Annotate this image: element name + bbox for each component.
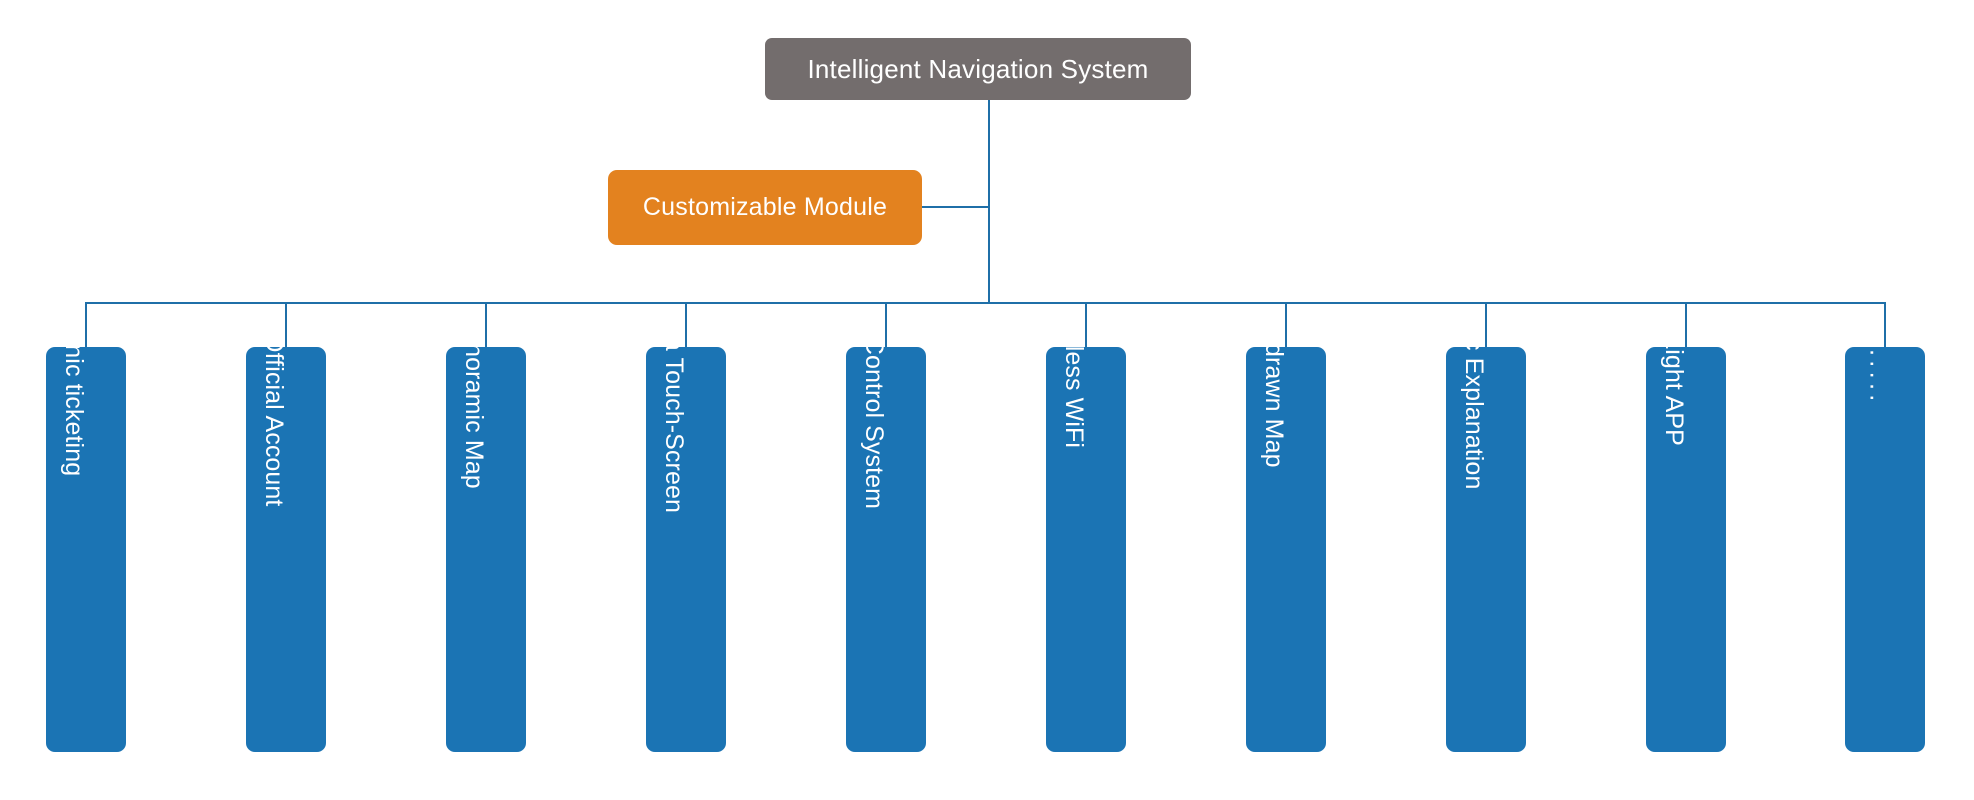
leaf-node-label: Exit-inlet Control System bbox=[861, 347, 886, 509]
leaf-node-label: 720° Panoramic Map bbox=[461, 347, 486, 489]
leaf-node-hand-drawn-map[interactable]: Hand-drawn Map bbox=[1246, 347, 1326, 752]
leaf-node-multimedia-touch-screen[interactable]: Multimedia Touch-Screen bbox=[646, 347, 726, 752]
leaf-node-group: Electronic ticketing WeChat Official Acc… bbox=[0, 0, 1974, 800]
leaf-node-label: Multimedia Touch-Screen bbox=[661, 347, 686, 513]
leaf-node-h5-light-app[interactable]: H5 Light APP bbox=[1646, 347, 1726, 752]
leaf-node-label: Wireless WiFi bbox=[1061, 347, 1086, 448]
leaf-node-label: Electronic ticketing bbox=[61, 347, 86, 476]
leaf-node-phonetic-explanation[interactable]: Phonetic Explanation bbox=[1446, 347, 1526, 752]
leaf-node-wechat-official-account[interactable]: WeChat Official Account bbox=[246, 347, 326, 752]
leaf-node-label: Phonetic Explanation bbox=[1461, 347, 1486, 489]
leaf-node-label: H5 Light APP bbox=[1661, 347, 1686, 446]
leaf-node-more[interactable]: ······ bbox=[1845, 347, 1925, 752]
leaf-node-label: ······ bbox=[1860, 347, 1885, 405]
leaf-node-exit-inlet-control-system[interactable]: Exit-inlet Control System bbox=[846, 347, 926, 752]
leaf-node-720-panoramic-map[interactable]: 720° Panoramic Map bbox=[446, 347, 526, 752]
leaf-node-label: WeChat Official Account bbox=[261, 347, 286, 506]
leaf-node-label: Hand-drawn Map bbox=[1261, 347, 1286, 468]
leaf-node-wireless-wifi[interactable]: Wireless WiFi bbox=[1046, 347, 1126, 752]
diagram-canvas: Intelligent Navigation System Customizab… bbox=[0, 0, 1974, 800]
leaf-node-electronic-ticketing[interactable]: Electronic ticketing bbox=[46, 347, 126, 752]
